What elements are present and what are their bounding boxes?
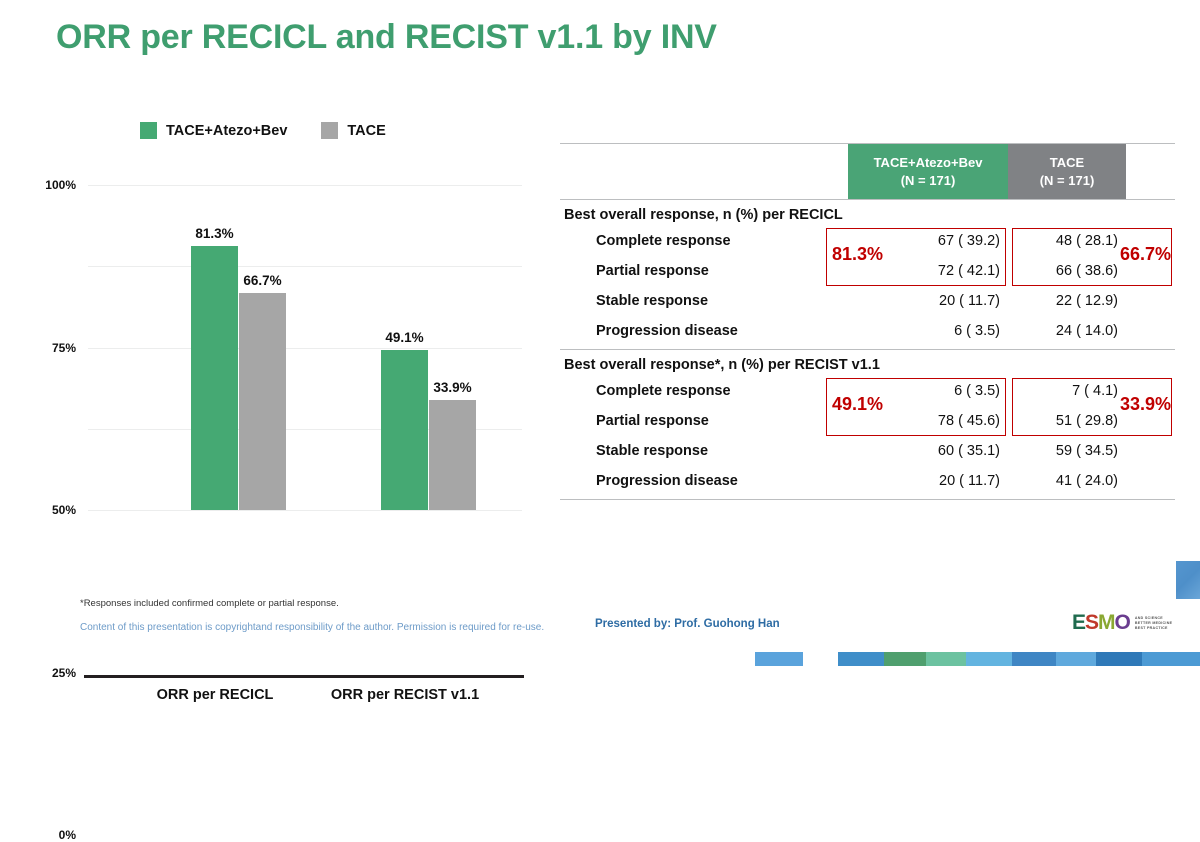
chart-x-tick-label: ORR per RECICL [157, 687, 274, 703]
chart-bar: 33.9% [429, 400, 476, 510]
chart-y-tick-label: 0% [59, 828, 76, 842]
table-row: Progression disease6 ( 3.5)24 ( 14.0) [560, 316, 1175, 346]
table-section: Best overall response, n (%) per RECICLC… [560, 200, 1175, 350]
chart-bar: 66.7% [239, 293, 286, 510]
cell-arm2: 51 ( 29.8) [1008, 413, 1118, 429]
cell-arm2: 24 ( 14.0) [1008, 323, 1118, 339]
chart-bar: 81.3% [191, 246, 238, 510]
table-row: Stable response60 ( 35.1)59 ( 34.5) [560, 436, 1175, 466]
arm2-name: TACE [1050, 154, 1084, 172]
chart-bar-value-label: 49.1% [385, 330, 423, 345]
chart-y-tick-label: 75% [52, 341, 76, 355]
legend-swatch-icon [321, 122, 338, 139]
chart-bar: 49.1% [381, 350, 428, 510]
cell-arm2: 66 ( 38.6) [1008, 263, 1118, 279]
esmo-letter: S [1085, 612, 1098, 633]
esmo-tagline-line: BETTER MEDICINE [1135, 621, 1172, 625]
page-title: ORR per RECICL and RECIST v1.1 by INV [56, 18, 717, 57]
highlight-percent-arm1: 81.3% [832, 244, 883, 265]
esmo-letter: M [1098, 612, 1115, 633]
highlight-percent-arm2: 66.7% [1120, 244, 1171, 265]
arm2-n: (N = 171) [1040, 172, 1095, 190]
cell-arm1: 20 ( 11.7) [848, 293, 1000, 309]
row-label: Stable response [596, 293, 708, 309]
cell-arm1: 78 ( 45.6) [848, 413, 1000, 429]
table-header-arm2: TACE (N = 171) [1008, 144, 1126, 199]
chart-gridline: 75% [88, 266, 522, 267]
chart-legend: TACE+Atezo+Bev TACE [140, 122, 386, 139]
legend-item-tace: TACE [321, 122, 385, 139]
strip-segment [1056, 652, 1096, 666]
row-label: Progression disease [596, 473, 738, 489]
footnote: *Responses included confirmed complete o… [80, 598, 339, 609]
strip-segment [1142, 652, 1200, 666]
chart-x-tick-label: ORR per RECIST v1.1 [331, 687, 479, 703]
strip-segment [926, 652, 966, 666]
bar-chart: 0%25%50%75%100%81.3%66.7%49.1%33.9% ORR … [26, 175, 526, 535]
row-label: Partial response [596, 413, 709, 429]
cell-arm2: 48 ( 28.1) [1008, 233, 1118, 249]
results-table: TACE+Atezo+Bev (N = 171) TACE (N = 171) … [560, 143, 1175, 500]
legend-swatch-icon [140, 122, 157, 139]
row-label: Complete response [596, 233, 731, 249]
chart-gridline: 100% [88, 185, 522, 186]
table-section-title: Best overall response, n (%) per RECICL [560, 200, 1175, 226]
chart-gridline: 50% [88, 348, 522, 349]
highlight-percent-arm1: 49.1% [832, 394, 883, 415]
strip-segment [966, 652, 1012, 666]
esmo-tagline-line: BEST PRACTICE [1135, 626, 1172, 630]
strip-segment [884, 652, 926, 666]
table-section-divider [560, 499, 1175, 500]
esmo-tagline: AND SCIENCEBETTER MEDICINEBEST PRACTICE [1135, 616, 1172, 630]
strip-segment [755, 652, 803, 666]
cell-arm2: 41 ( 24.0) [1008, 473, 1118, 489]
table-row: Stable response20 ( 11.7)22 ( 12.9) [560, 286, 1175, 316]
highlight-percent-arm2: 33.9% [1120, 394, 1171, 415]
chart-y-tick-label: 100% [45, 178, 76, 192]
strip-segment [1012, 652, 1056, 666]
chart-y-tick-label: 50% [52, 503, 76, 517]
cell-arm1: 6 ( 3.5) [848, 323, 1000, 339]
table-section: Best overall response*, n (%) per RECIST… [560, 350, 1175, 500]
table-row: Progression disease20 ( 11.7)41 ( 24.0) [560, 466, 1175, 496]
esmo-wordmark: ESMO [1072, 612, 1130, 633]
esmo-letter: O [1115, 612, 1130, 633]
table-section-title: Best overall response*, n (%) per RECIST… [560, 350, 1175, 376]
arm1-name: TACE+Atezo+Bev [874, 154, 983, 172]
copyright-notice: Content of this presentation is copyrigh… [80, 622, 544, 633]
legend-label: TACE [347, 123, 385, 139]
esmo-letter: E [1072, 612, 1085, 633]
chart-bar-value-label: 81.3% [195, 226, 233, 241]
chart-bar-value-label: 33.9% [433, 380, 471, 395]
chart-x-axis [84, 675, 524, 678]
strip-segment [1096, 652, 1142, 666]
table-header-row: TACE+Atezo+Bev (N = 171) TACE (N = 171) [560, 143, 1175, 200]
decorative-blue-tab [1176, 561, 1200, 599]
row-label: Partial response [596, 263, 709, 279]
cell-arm1: 60 ( 35.1) [848, 443, 1000, 459]
cell-arm1: 72 ( 42.1) [848, 263, 1000, 279]
strip-segment [838, 652, 884, 666]
row-label: Progression disease [596, 323, 738, 339]
cell-arm2: 59 ( 34.5) [1008, 443, 1118, 459]
legend-label: TACE+Atezo+Bev [166, 123, 287, 139]
row-label: Stable response [596, 443, 708, 459]
esmo-logo: ESMO AND SCIENCEBETTER MEDICINEBEST PRAC… [1072, 612, 1172, 633]
arm1-n: (N = 171) [901, 172, 956, 190]
presenter-credit: Presented by: Prof. Guohong Han [595, 618, 780, 630]
cell-arm1: 20 ( 11.7) [848, 473, 1000, 489]
cell-arm2: 22 ( 12.9) [1008, 293, 1118, 309]
table-header-arm1: TACE+Atezo+Bev (N = 171) [848, 144, 1008, 199]
chart-plot-area: 0%25%50%75%100%81.3%66.7%49.1%33.9% [88, 185, 522, 510]
decorative-bottom-strip [0, 652, 1200, 666]
chart-gridline: 0% [88, 510, 522, 511]
row-label: Complete response [596, 383, 731, 399]
esmo-tagline-line: AND SCIENCE [1135, 616, 1172, 620]
chart-bar-value-label: 66.7% [243, 273, 281, 288]
chart-y-tick-label: 25% [52, 666, 76, 680]
table-sections: Best overall response, n (%) per RECICLC… [560, 200, 1175, 500]
cell-arm2: 7 ( 4.1) [1008, 383, 1118, 399]
legend-item-tace-atezo-bev: TACE+Atezo+Bev [140, 122, 287, 139]
